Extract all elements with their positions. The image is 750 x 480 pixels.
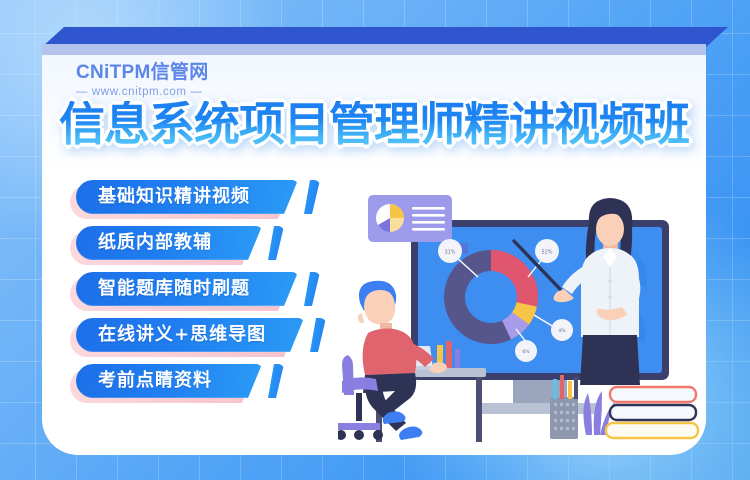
banner-stage: CNiTPM信管网 — www.cnitpm.com — 信息系统项目管理师精讲… [0, 0, 750, 480]
feature-label: 智能题库随时刷题 [76, 280, 272, 298]
feature-pill-4[interactable]: 在线讲义+思维导图 [76, 318, 304, 352]
feature-pill-2[interactable]: 纸质内部教辅 [76, 226, 262, 260]
svg-text:6%: 6% [522, 349, 530, 355]
svg-text:31%: 31% [444, 250, 455, 256]
feature-label: 纸质内部教辅 [76, 234, 234, 252]
svg-text:52%: 52% [541, 250, 552, 256]
feature-label: 在线讲义+思维导图 [76, 326, 288, 344]
donut-chart [444, 250, 538, 344]
feature-pill-3[interactable]: 智能题库随时刷题 [76, 272, 298, 306]
book-stack [606, 387, 698, 438]
svg-text:4%: 4% [558, 328, 566, 334]
pill-tail [304, 180, 320, 214]
feature-pill-5[interactable]: 考前点睛资料 [76, 364, 262, 398]
feature-label: 基础知识精讲视频 [76, 188, 272, 206]
online-class-illustration: 31% 52% 4% 6% [338, 185, 706, 455]
logo-text: CNiTPM信管网 [76, 63, 209, 82]
pen-holder [550, 375, 578, 439]
feature-label: 考前点睛资料 [76, 372, 234, 390]
feature-pill-1[interactable]: 基础知识精讲视频 [76, 180, 298, 214]
pill-tail [268, 364, 284, 398]
pill-tail [310, 318, 326, 352]
pill-tail [304, 272, 320, 306]
page-title: 信息系统项目管理师精讲视频班 [42, 101, 706, 147]
pill-tail [268, 226, 284, 260]
brand-logo[interactable]: CNiTPM信管网 — www.cnitpm.com — [76, 63, 209, 99]
content-card: CNiTPM信管网 — www.cnitpm.com — 信息系统项目管理师精讲… [42, 55, 706, 455]
